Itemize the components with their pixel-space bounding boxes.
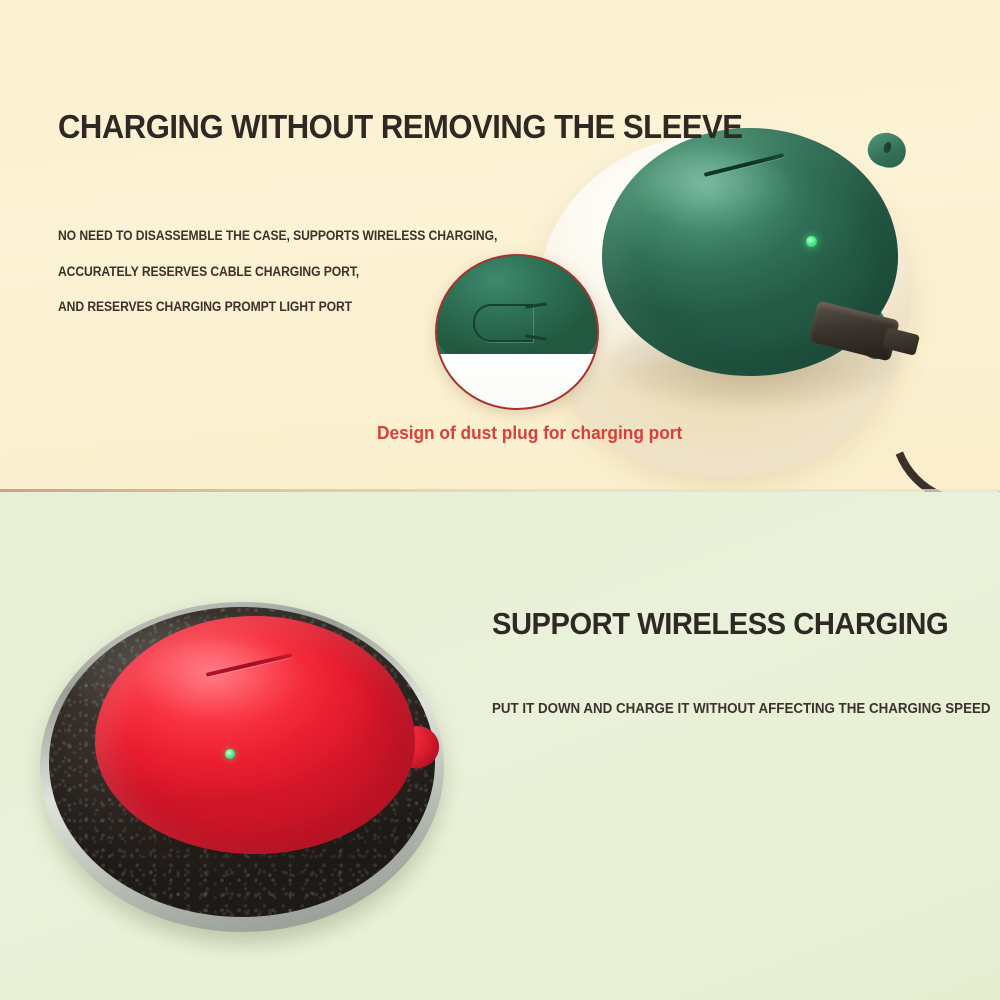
red-case-highlight — [140, 640, 300, 720]
subtitle-bottom: PUT IT DOWN AND CHARGE IT WITHOUT AFFECT… — [492, 701, 991, 717]
panel-charging-without-sleeve: CHARGING WITHOUT REMOVING THE SLEEVE NO … — [0, 0, 1000, 492]
magnifier-callout — [435, 254, 599, 410]
product-feature-image: CHARGING WITHOUT REMOVING THE SLEEVE NO … — [0, 0, 1000, 1000]
led-dot-icon — [806, 236, 817, 247]
magnifier-lower-white — [437, 354, 597, 408]
page-title-bottom: SUPPORT WIRELESS CHARGING — [492, 606, 948, 642]
callout-caption: Design of dust plug for charging port — [377, 423, 682, 444]
page-title-top: CHARGING WITHOUT REMOVING THE SLEEVE — [58, 108, 743, 146]
body-line-2: ACCURATELY RESERVES CABLE CHARGING PORT, — [58, 264, 359, 279]
body-line-3: AND RESERVES CHARGING PROMPT LIGHT PORT — [58, 299, 352, 314]
led-dot-icon — [225, 749, 235, 759]
body-line-1: NO NEED TO DISASSEMBLE THE CASE, SUPPORT… — [58, 228, 497, 243]
green-case-highlight — [640, 150, 790, 228]
